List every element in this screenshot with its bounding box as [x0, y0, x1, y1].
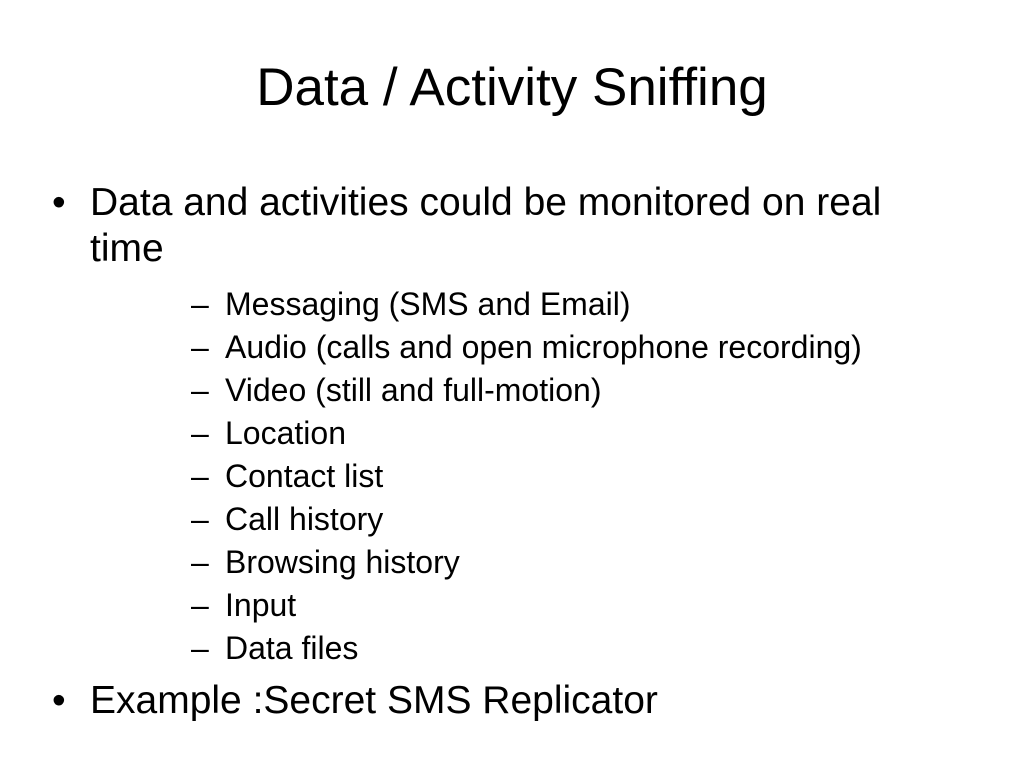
slide-body: • Data and activities could be monitored… [0, 180, 950, 724]
sub-bullet-item: – Audio (calls and open microphone recor… [90, 326, 950, 369]
dash-marker-icon: – [191, 584, 209, 627]
sub-bullet-item: – Contact list [90, 455, 950, 498]
sub-bullet-text: Messaging (SMS and Email) [225, 283, 630, 326]
dash-marker-icon: – [191, 455, 209, 498]
sub-bullet-item: – Browsing history [90, 541, 950, 584]
sub-bullet-text: Audio (calls and open microphone recordi… [225, 326, 862, 369]
sub-bullet-text: Browsing history [225, 541, 460, 584]
bullet-list-level1: • Data and activities could be monitored… [0, 180, 950, 724]
sub-bullet-text: Input [225, 584, 296, 627]
bullet-text: Data and activities could be monitored o… [90, 180, 935, 272]
sub-bullet-text: Data files [225, 627, 358, 670]
dash-marker-icon: – [191, 541, 209, 584]
sub-bullet-item: – Call history [90, 498, 950, 541]
dash-marker-icon: – [191, 326, 209, 369]
sub-bullet-item: – Data files [90, 627, 950, 670]
dash-marker-icon: – [191, 369, 209, 412]
bullet-item: • Example :Secret SMS Replicator [0, 678, 950, 724]
slide-title: Data / Activity Sniffing [0, 58, 1024, 117]
sub-bullet-text: Location [225, 412, 346, 455]
bullet-marker-icon: • [52, 180, 66, 226]
sub-bullet-item: – Input [90, 584, 950, 627]
dash-marker-icon: – [191, 498, 209, 541]
bullet-text: Example :Secret SMS Replicator [90, 678, 935, 724]
sub-bullet-item: – Video (still and full-motion) [90, 369, 950, 412]
dash-marker-icon: – [191, 412, 209, 455]
bullet-list-level2: – Messaging (SMS and Email) – Audio (cal… [90, 283, 950, 670]
bullet-marker-icon: • [52, 678, 66, 724]
presentation-slide: Data / Activity Sniffing • Data and acti… [0, 0, 1024, 768]
sub-bullet-item: – Location [90, 412, 950, 455]
dash-marker-icon: – [191, 627, 209, 670]
sub-bullet-text: Video (still and full-motion) [225, 369, 601, 412]
sub-bullet-text: Contact list [225, 455, 383, 498]
bullet-item: • Data and activities could be monitored… [0, 180, 950, 670]
sub-bullet-text: Call history [225, 498, 383, 541]
dash-marker-icon: – [191, 283, 209, 326]
sub-bullet-item: – Messaging (SMS and Email) [90, 283, 950, 326]
